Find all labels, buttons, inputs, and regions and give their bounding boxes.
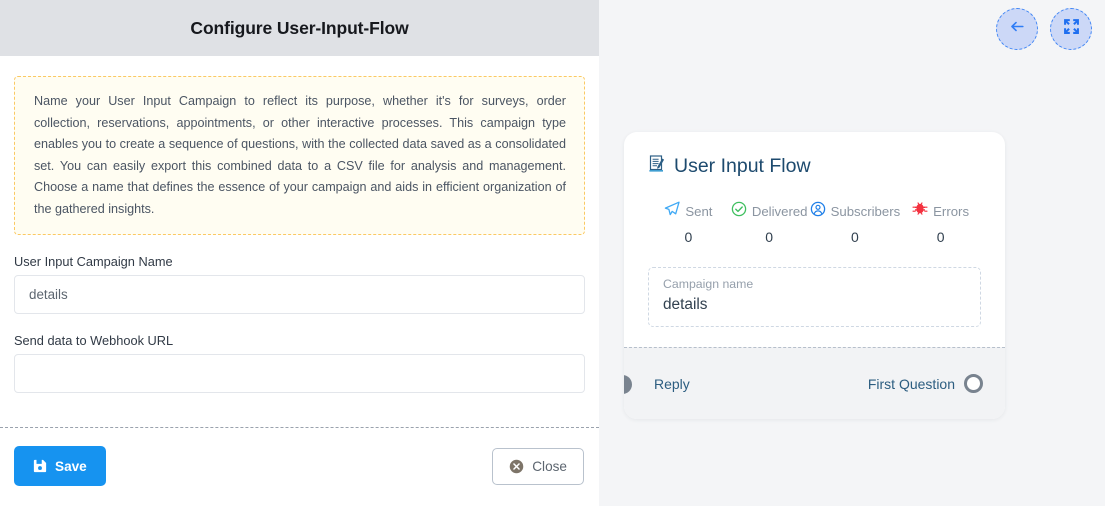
stat-delivered-head: Delivered xyxy=(731,201,808,222)
flow-canvas: User Input Flow Sent 0 xyxy=(599,0,1105,506)
modal-footer: Save Close xyxy=(0,428,599,506)
configure-modal: Configure User-Input-Flow Name your User… xyxy=(0,0,599,506)
campaign-name-field-group: User Input Campaign Name xyxy=(14,254,585,314)
back-button[interactable] xyxy=(996,8,1038,50)
signature-document-icon xyxy=(648,154,666,179)
card-title: User Input Flow xyxy=(674,155,811,178)
stat-sent-value: 0 xyxy=(684,229,692,245)
stat-delivered: Delivered 0 xyxy=(729,201,810,245)
check-circle-icon xyxy=(731,201,747,222)
stat-sent: Sent 0 xyxy=(648,201,729,245)
stat-delivered-value: 0 xyxy=(765,229,773,245)
stat-sent-label: Sent xyxy=(685,204,712,219)
compress-arrows-icon xyxy=(1063,18,1080,40)
webhook-url-field-group: Send data to Webhook URL xyxy=(14,333,585,393)
save-button[interactable]: Save xyxy=(14,446,106,486)
info-callout-text: Name your User Input Campaign to reflect… xyxy=(34,91,566,220)
stat-errors-label: Errors xyxy=(933,204,969,219)
paper-plane-icon xyxy=(664,201,680,222)
card-body: User Input Flow Sent 0 xyxy=(624,132,1005,347)
input-connector-handle[interactable] xyxy=(624,375,632,394)
output-connector-handle[interactable] xyxy=(964,374,983,393)
campaign-name-readout-value: details xyxy=(663,296,966,314)
stats-row: Sent 0 Delivered 0 xyxy=(648,201,981,245)
circle-x-icon xyxy=(509,459,524,474)
stat-subscribers: Subscribers 0 xyxy=(810,201,901,245)
modal-header: Configure User-Input-Flow xyxy=(0,0,599,56)
stat-subscribers-value: 0 xyxy=(851,229,859,245)
cancel-button-label: Close xyxy=(532,459,567,474)
floppy-disk-icon xyxy=(33,459,47,473)
page-title: Configure User-Input-Flow xyxy=(190,18,408,39)
stat-errors-head: Errors xyxy=(912,201,969,222)
campaign-name-readout-label: Campaign name xyxy=(663,277,966,291)
modal-body: Name your User Input Campaign to reflect… xyxy=(0,56,599,393)
stat-subscribers-head: Subscribers xyxy=(810,201,901,222)
webhook-url-input[interactable] xyxy=(14,354,585,393)
webhook-url-label: Send data to Webhook URL xyxy=(14,333,585,348)
stat-delivered-label: Delivered xyxy=(752,204,808,219)
user-circle-icon xyxy=(810,201,826,222)
card-title-row: User Input Flow xyxy=(648,154,981,179)
campaign-name-readout: Campaign name details xyxy=(648,267,981,327)
first-question-label: First Question xyxy=(868,376,955,392)
info-callout: Name your User Input Campaign to reflect… xyxy=(14,76,585,235)
canvas-toolbar xyxy=(996,8,1092,50)
campaign-name-label: User Input Campaign Name xyxy=(14,254,585,269)
flow-node-card[interactable]: User Input Flow Sent 0 xyxy=(624,132,1005,419)
card-footer: Reply First Question xyxy=(624,347,1005,419)
bug-icon xyxy=(912,201,928,222)
stat-errors-value: 0 xyxy=(937,229,945,245)
cancel-button[interactable]: Close xyxy=(492,448,584,485)
stat-subscribers-label: Subscribers xyxy=(831,204,901,219)
stat-errors: Errors 0 xyxy=(900,201,981,245)
arrow-left-icon xyxy=(1009,18,1026,40)
collapse-button[interactable] xyxy=(1050,8,1092,50)
campaign-name-input[interactable] xyxy=(14,275,585,314)
stat-sent-head: Sent xyxy=(664,201,712,222)
save-button-label: Save xyxy=(55,459,87,474)
reply-label: Reply xyxy=(654,376,690,392)
